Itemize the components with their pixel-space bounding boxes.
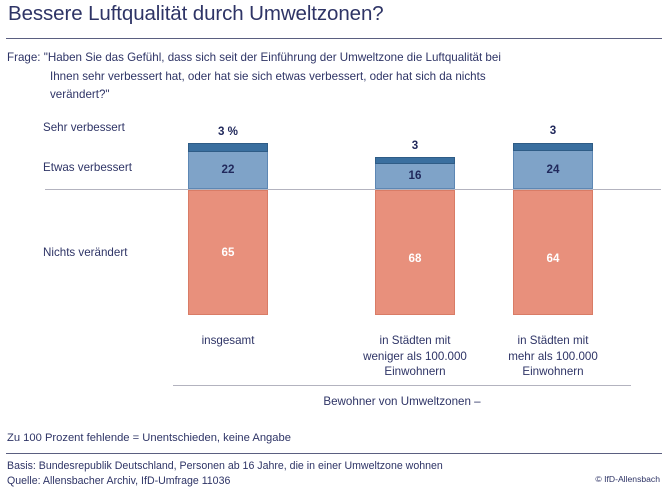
source-block: Basis: Bundesrepublik Deutschland, Perso… <box>7 459 443 489</box>
x-axis-label-grossstadt: in Städten mit mehr als 100.000 Einwohne… <box>493 333 613 380</box>
bar-value-sehr-2: 3 <box>513 124 593 137</box>
x-axis-label-grossstadt-line1: in Städten mit <box>493 333 613 349</box>
x-axis-caption: Bewohner von Umweltzonen – <box>173 395 631 408</box>
bar-value-nichts-2: 64 <box>513 252 593 265</box>
x-axis-label-kleinstadt-line1: in Städten mit <box>355 333 475 349</box>
bar-value-nichts-1: 68 <box>375 252 455 265</box>
x-axis-label-kleinstadt-line2: weniger als 100.000 <box>355 349 475 365</box>
bar-value-etwas-2: 24 <box>513 163 593 176</box>
source-text: Quelle: Allensbacher Archiv, IfD-Umfrage… <box>7 474 443 489</box>
bar-value-nichts-0: 65 <box>188 246 268 259</box>
stacked-bar-chart: Sehr verbessert Etwas verbessert Nichts … <box>0 0 668 490</box>
x-axis-label-insgesamt-line1: insgesamt <box>168 333 288 349</box>
footnote-remainder: Zu 100 Prozent fehlende = Unentschieden,… <box>7 432 291 444</box>
category-label-etwas-verbessert: Etwas verbessert <box>43 161 132 174</box>
x-axis-label-grossstadt-line2: mehr als 100.000 <box>493 349 613 365</box>
x-axis-line <box>173 385 631 386</box>
footer-divider <box>6 453 662 454</box>
bar-group-kleinstadt: 3 16 68 <box>375 0 455 490</box>
category-label-nichts-veraendert: Nichts verändert <box>43 246 127 259</box>
bar-value-etwas-0: 22 <box>188 163 268 176</box>
x-axis-label-grossstadt-line3: Einwohnern <box>493 364 613 380</box>
basis-text: Basis: Bundesrepublik Deutschland, Perso… <box>7 459 443 474</box>
bar-group-insgesamt: 3 % 22 65 <box>188 0 268 490</box>
bar-segment-sehr-1[interactable] <box>375 157 455 164</box>
bar-value-sehr-0: 3 % <box>188 125 268 138</box>
x-axis-label-insgesamt: insgesamt <box>168 333 288 349</box>
x-axis-label-kleinstadt-line3: Einwohnern <box>355 364 475 380</box>
bar-value-etwas-1: 16 <box>375 169 455 182</box>
bar-value-sehr-1: 3 <box>375 139 455 152</box>
bar-group-grossstadt: 3 24 64 <box>513 0 593 490</box>
x-axis-label-kleinstadt: in Städten mit weniger als 100.000 Einwo… <box>355 333 475 380</box>
bar-segment-sehr-2[interactable] <box>513 143 593 151</box>
bar-segment-sehr-0[interactable] <box>188 143 268 152</box>
copyright-notice: © IfD-Allensbach <box>595 474 660 484</box>
category-label-sehr-verbessert: Sehr verbessert <box>43 121 125 134</box>
